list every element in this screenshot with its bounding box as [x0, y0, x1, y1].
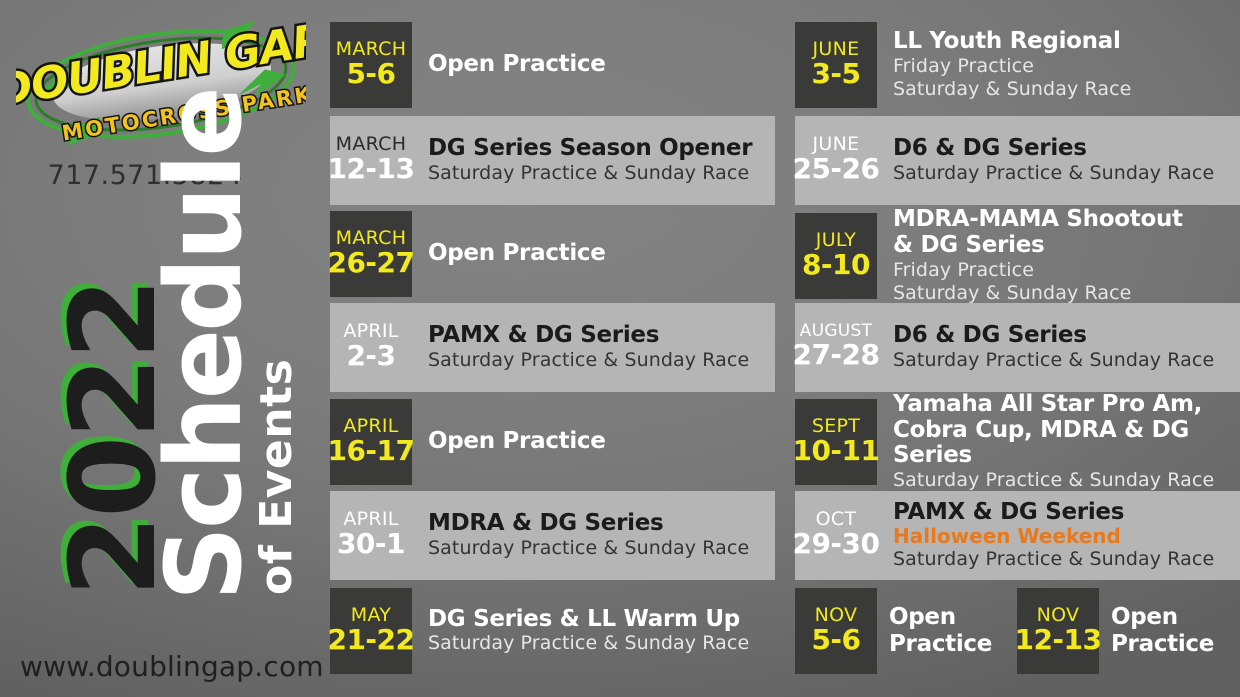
event-days: 16-17	[327, 437, 414, 466]
event-row[interactable]: OCT29-30PAMX & DG SeriesHalloween Weeken…	[795, 491, 1240, 580]
event-title: D6 & DG Series	[893, 136, 1232, 162]
event-row[interactable]: JUNE25-26D6 & DG SeriesSaturday Practice…	[795, 116, 1240, 205]
website-url: www.doublingap.com	[20, 650, 324, 683]
event-row[interactable]: SEPT10-11Yamaha All Star Pro Am,Cobra Cu…	[795, 399, 1240, 485]
event-title: LL Youth Regional	[893, 29, 1232, 55]
event-days: 12-13	[1014, 626, 1101, 655]
event-subtitle: Saturday Practice & Sunday Race	[428, 537, 767, 560]
event-row[interactable]: APRIL16-17Open Practice	[330, 399, 775, 485]
event-date-chip: APRIL30-1	[330, 491, 412, 580]
event-date-chip: MARCH5-6	[330, 22, 412, 108]
event-title: MDRA & DG Series	[428, 511, 767, 537]
event-days: 25-26	[792, 155, 879, 184]
event-title: DG Series & LL Warm Up	[428, 607, 767, 633]
event-title: Open Practice	[428, 429, 767, 455]
event-text-block: LL Youth RegionalFriday PracticeSaturday…	[877, 22, 1240, 108]
event-text-block: PAMX & DG SeriesHalloween WeekendSaturda…	[877, 491, 1240, 580]
event-title: Open Practice	[428, 241, 767, 267]
event-subtitle: Saturday Practice & Sunday Race	[428, 632, 767, 655]
event-days: 5-6	[346, 60, 395, 89]
event-row[interactable]: JULY8-10MDRA-MAMA Shootout& DG SeriesFri…	[795, 213, 1240, 299]
event-row[interactable]: NOV12-13OpenPractice	[1017, 588, 1239, 674]
event-title: Yamaha All Star Pro Am,Cobra Cup, MDRA &…	[893, 392, 1232, 469]
event-days: 27-28	[792, 341, 879, 370]
schedule-column-left: MARCH5-6Open PracticeMARCH12-13DG Series…	[330, 0, 775, 697]
event-row[interactable]: AUGUST27-28D6 & DG SeriesSaturday Practi…	[795, 303, 1240, 392]
event-text-block: DG Series & LL Warm UpSaturday Practice …	[412, 588, 775, 674]
event-title: DG Series Season Opener	[428, 136, 767, 162]
event-days: 3-5	[811, 60, 860, 89]
branding-panel: DOUBLIN GAP MOTOCROSS PARK 717.571.5824 …	[0, 0, 322, 697]
event-subtitle: Friday Practice	[893, 55, 1232, 78]
event-date-chip: NOV12-13	[1017, 588, 1099, 674]
event-title: OpenPractice	[1111, 604, 1231, 657]
event-title: OpenPractice	[889, 604, 1009, 657]
event-text-block: Yamaha All Star Pro Am,Cobra Cup, MDRA &…	[877, 399, 1240, 485]
event-days: 21-22	[327, 626, 414, 655]
schedule-column-right: JUNE3-5LL Youth RegionalFriday PracticeS…	[795, 0, 1240, 697]
event-subtitle: Saturday Practice & Sunday Race	[428, 349, 767, 372]
event-text-block: MDRA-MAMA Shootout& DG SeriesFriday Prac…	[877, 213, 1240, 299]
event-title: PAMX & DG Series	[428, 323, 767, 349]
event-date-chip: AUGUST27-28	[795, 303, 877, 392]
event-text-block: MDRA & DG SeriesSaturday Practice & Sund…	[412, 491, 775, 580]
event-date-chip: MARCH26-27	[330, 211, 412, 297]
event-title: D6 & DG Series	[893, 323, 1232, 349]
event-subtitle: Saturday Practice & Sunday Race	[428, 162, 767, 185]
event-text-block: D6 & DG SeriesSaturday Practice & Sunday…	[877, 116, 1240, 205]
title-year: 2022	[64, 281, 163, 597]
event-subtitle: Saturday Practice & Sunday Race	[893, 162, 1232, 185]
event-row[interactable]: MARCH5-6Open Practice	[330, 22, 775, 108]
event-days: 8-10	[802, 251, 870, 280]
event-days: 12-13	[327, 155, 414, 184]
event-subtitle: Friday Practice	[893, 259, 1232, 282]
event-text-block: PAMX & DG SeriesSaturday Practice & Sund…	[412, 303, 775, 392]
event-date-chip: NOV5-6	[795, 588, 877, 674]
event-text-block: Open Practice	[412, 22, 775, 108]
event-days: 10-11	[792, 437, 879, 466]
event-title: PAMX & DG Series	[893, 500, 1232, 526]
event-row[interactable]: APRIL2-3PAMX & DG SeriesSaturday Practic…	[330, 303, 775, 392]
event-subtitle: Saturday Practice & Sunday Race	[893, 469, 1232, 492]
event-row[interactable]: MARCH12-13DG Series Season OpenerSaturda…	[330, 116, 775, 205]
event-subtitle-2: Saturday & Sunday Race	[893, 282, 1232, 305]
event-days: 30-1	[337, 530, 405, 559]
event-text-block: DG Series Season OpenerSaturday Practice…	[412, 116, 775, 205]
event-date-chip: OCT29-30	[795, 491, 877, 580]
event-days: 26-27	[327, 249, 414, 278]
event-title: MDRA-MAMA Shootout& DG Series	[893, 207, 1232, 259]
event-date-chip: JULY8-10	[795, 213, 877, 299]
title-of-events: of Events	[255, 359, 299, 601]
event-subtitle: Saturday Practice & Sunday Race	[893, 548, 1232, 571]
event-text-block: OpenPractice	[877, 588, 1017, 674]
event-text-block: OpenPractice	[1099, 588, 1239, 674]
event-days: 2-3	[346, 342, 395, 371]
event-note: Halloween Weekend	[893, 525, 1232, 548]
event-text-block: D6 & DG SeriesSaturday Practice & Sunday…	[877, 303, 1240, 392]
event-days: 29-30	[792, 530, 879, 559]
event-row[interactable]: NOV5-6OpenPractice	[795, 588, 1017, 674]
event-row[interactable]: MARCH26-27Open Practice	[330, 211, 775, 297]
event-date-chip: JUNE3-5	[795, 22, 877, 108]
event-date-chip: JUNE25-26	[795, 116, 877, 205]
event-subtitle-2: Saturday & Sunday Race	[893, 78, 1232, 101]
event-row-pair: NOV5-6OpenPracticeNOV12-13OpenPractice	[795, 588, 1240, 674]
event-text-block: Open Practice	[412, 399, 775, 485]
event-subtitle: Saturday Practice & Sunday Race	[893, 349, 1232, 372]
poster-canvas: DOUBLIN GAP MOTOCROSS PARK 717.571.5824 …	[0, 0, 1240, 697]
event-row[interactable]: MAY21-22DG Series & LL Warm UpSaturday P…	[330, 588, 775, 674]
event-row[interactable]: JUNE3-5LL Youth RegionalFriday PracticeS…	[795, 22, 1240, 108]
event-date-chip: APRIL16-17	[330, 399, 412, 485]
event-date-chip: SEPT10-11	[795, 399, 877, 485]
event-date-chip: MARCH12-13	[330, 116, 412, 205]
event-row[interactable]: APRIL30-1MDRA & DG SeriesSaturday Practi…	[330, 491, 775, 580]
schedule-title-block: 2022 Schedule of Events	[0, 185, 299, 615]
event-date-chip: MAY21-22	[330, 588, 412, 674]
event-text-block: Open Practice	[412, 211, 775, 297]
event-days: 5-6	[811, 626, 860, 655]
event-title: Open Practice	[428, 52, 767, 78]
event-date-chip: APRIL2-3	[330, 303, 412, 392]
